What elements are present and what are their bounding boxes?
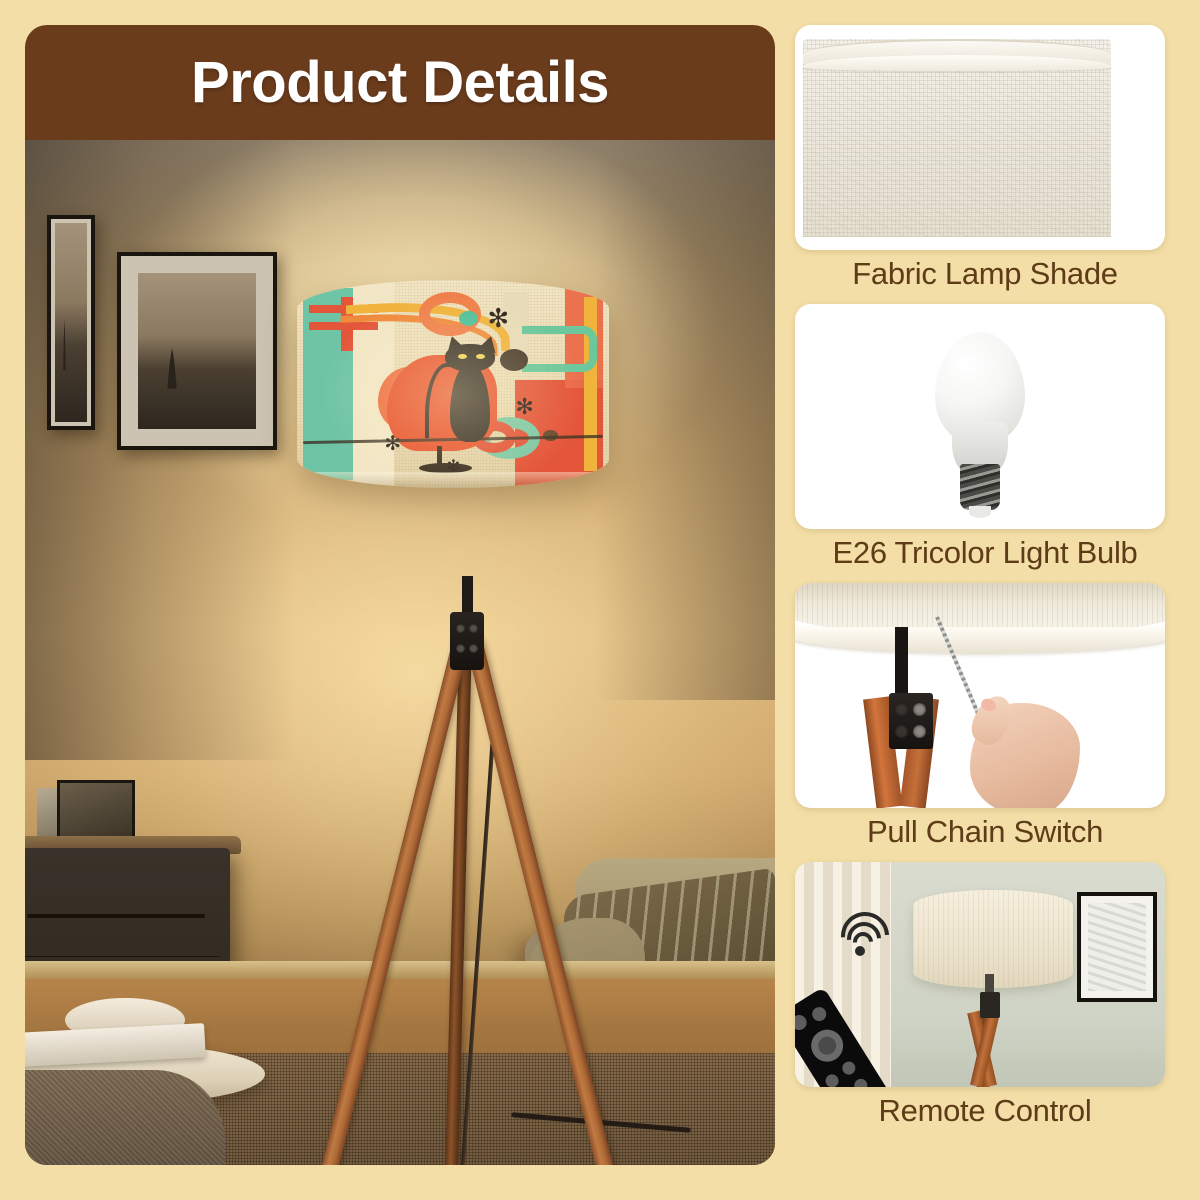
feature-image-card [795,862,1165,1087]
shade-bottom-lip [297,472,609,488]
remote-button [852,1076,870,1087]
lamp-shade-inner-edge [795,627,1165,653]
tripod-floor-lamp: ✻ ✻ ✻ ✻ [25,140,775,1165]
shade-green-outline [522,326,597,372]
hub-screw [895,703,908,716]
tripod-hub [889,693,933,749]
hub-screw [895,725,908,738]
bulb-screw-base [960,464,1000,510]
hub-screw [456,644,465,653]
bulb-contact-tip [969,506,991,518]
main-product-panel: Product Details [25,25,775,1165]
signal-origin-dot [855,946,865,956]
artwork [1088,903,1146,991]
starburst-icon: ✻ [384,434,401,454]
feature-label: Pull Chain Switch [795,808,1175,854]
feature-fabric-lamp-shade[interactable]: Fabric Lamp Shade [795,25,1175,296]
feature-label: E26 Tricolor Light Bulb [795,529,1175,575]
page-title: Product Details [191,49,609,116]
hub-screw [469,644,478,653]
starburst-icon: ✻ [515,396,533,418]
hub-screw [913,703,926,716]
shade-cat-head [445,344,495,371]
remote-button [840,1059,858,1077]
tripod-hub [450,612,484,670]
fabric-shade-inner-rim [803,55,1111,71]
feature-label: Remote Control [795,1087,1175,1133]
shade-cat-eye [458,354,467,359]
feature-column: Fabric Lamp Shade E26 Tricolor Light Bul… [795,25,1175,1175]
shade-dark-blob [500,349,528,371]
feature-image-card [795,583,1165,808]
tripod-leg-right [465,638,630,1165]
header-banner: Product Details [25,25,775,140]
hub-screw [456,624,465,633]
room-scene-photo: ✻ ✻ ✻ ✻ [25,140,775,1165]
hub-screw [469,624,478,633]
feature-pull-chain-switch[interactable]: Pull Chain Switch [795,583,1175,854]
feature-image-card [795,25,1165,250]
printed-lamp-shade: ✻ ✻ ✻ ✻ [297,280,609,488]
remote-button [795,1012,809,1033]
starburst-icon: ✻ [487,305,509,331]
tripod-hub [980,992,1000,1018]
remote-dial [805,1024,849,1068]
remote-button [810,1004,829,1023]
remote-button [823,1072,841,1087]
shade-color-block-yellow [584,297,596,472]
framed-wall-art [1077,892,1157,1002]
tripod-leg-left [308,638,470,1165]
feature-label: Fabric Lamp Shade [795,250,1175,296]
feature-e26-tricolor-light-bulb[interactable]: E26 Tricolor Light Bulb [795,304,1175,575]
lamp-pole [895,627,908,699]
feature-remote-control[interactable]: Remote Control [795,862,1175,1133]
feature-image-card [795,304,1165,529]
hub-screw [913,725,926,738]
